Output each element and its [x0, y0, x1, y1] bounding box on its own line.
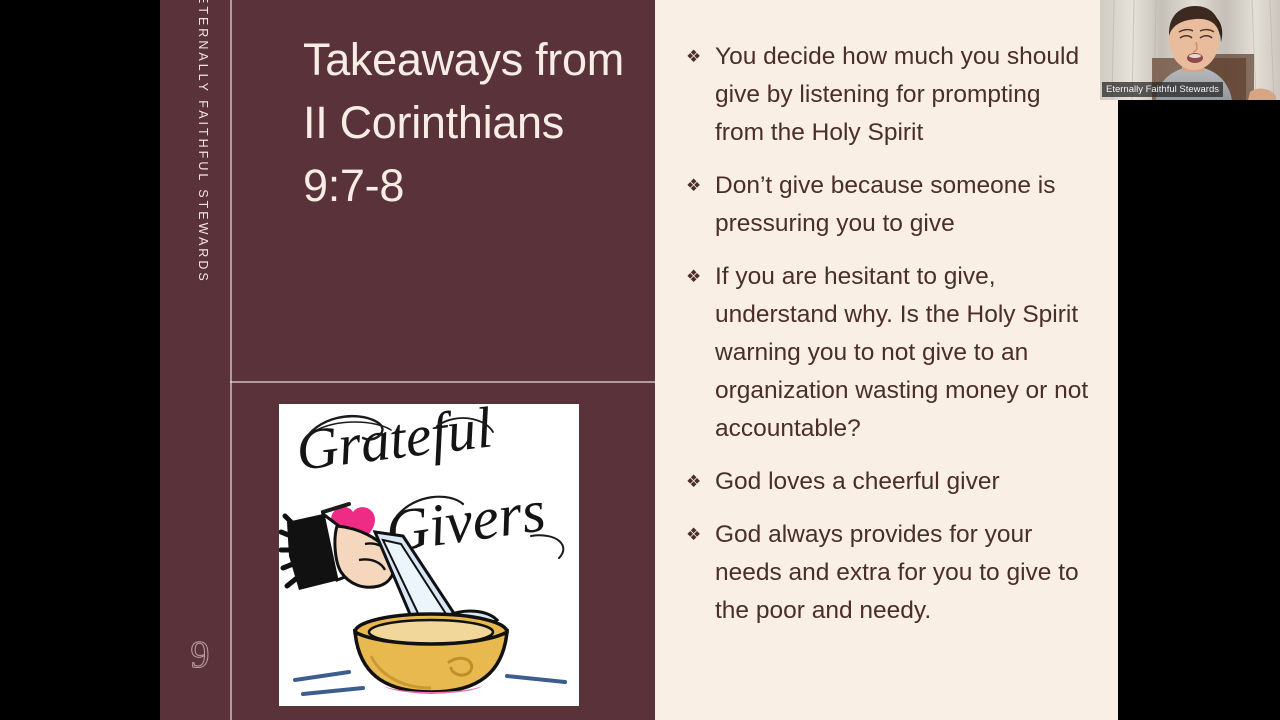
slide-bullet-list: ❖ You decide how much you should give by…: [655, 0, 1118, 720]
diamond-bullet-icon: ❖: [683, 258, 715, 296]
screen-canvas: ETERNALLY FAITHFUL STEWARDS 9 Takeaways …: [0, 0, 1280, 720]
list-item: ❖ You decide how much you should give by…: [683, 38, 1090, 152]
slide-title: Takeaways from II Corinthians 9:7-8: [303, 28, 648, 217]
list-item-text: If you are hesitant to give, understand …: [715, 258, 1090, 448]
diamond-bullet-icon: ❖: [683, 167, 715, 205]
grateful-givers-image: Grateful Givers: [279, 404, 579, 706]
participant-name-label: Eternally Faithful Stewards: [1102, 82, 1223, 97]
list-item-text: Don’t give because someone is pressuring…: [715, 167, 1090, 243]
brand-vertical-label: ETERNALLY FAITHFUL STEWARDS: [196, 0, 210, 255]
diamond-bullet-icon: ❖: [683, 463, 715, 501]
diamond-bullet-icon: ❖: [683, 516, 715, 554]
list-item-text: God always provides for your needs and e…: [715, 516, 1090, 630]
diamond-bullet-icon: ❖: [683, 38, 715, 76]
horizontal-divider-line: [230, 381, 655, 383]
list-item: ❖ Don’t give because someone is pressuri…: [683, 167, 1090, 243]
list-item-text: God loves a cheerful giver: [715, 463, 1090, 501]
list-item: ❖ If you are hesitant to give, understan…: [683, 258, 1090, 448]
webcam-thumbnail[interactable]: Eternally Faithful Stewards: [1100, 0, 1280, 100]
list-item-text: You decide how much you should give by l…: [715, 38, 1090, 152]
slide-left-panel: ETERNALLY FAITHFUL STEWARDS 9 Takeaways …: [160, 0, 655, 720]
list-item: ❖ God always provides for your needs and…: [683, 516, 1090, 630]
vertical-divider-line: [230, 0, 232, 720]
list-item: ❖ God loves a cheerful giver: [683, 463, 1090, 501]
slide-page-number: 9: [180, 636, 220, 674]
presentation-slide: ETERNALLY FAITHFUL STEWARDS 9 Takeaways …: [160, 0, 1118, 720]
